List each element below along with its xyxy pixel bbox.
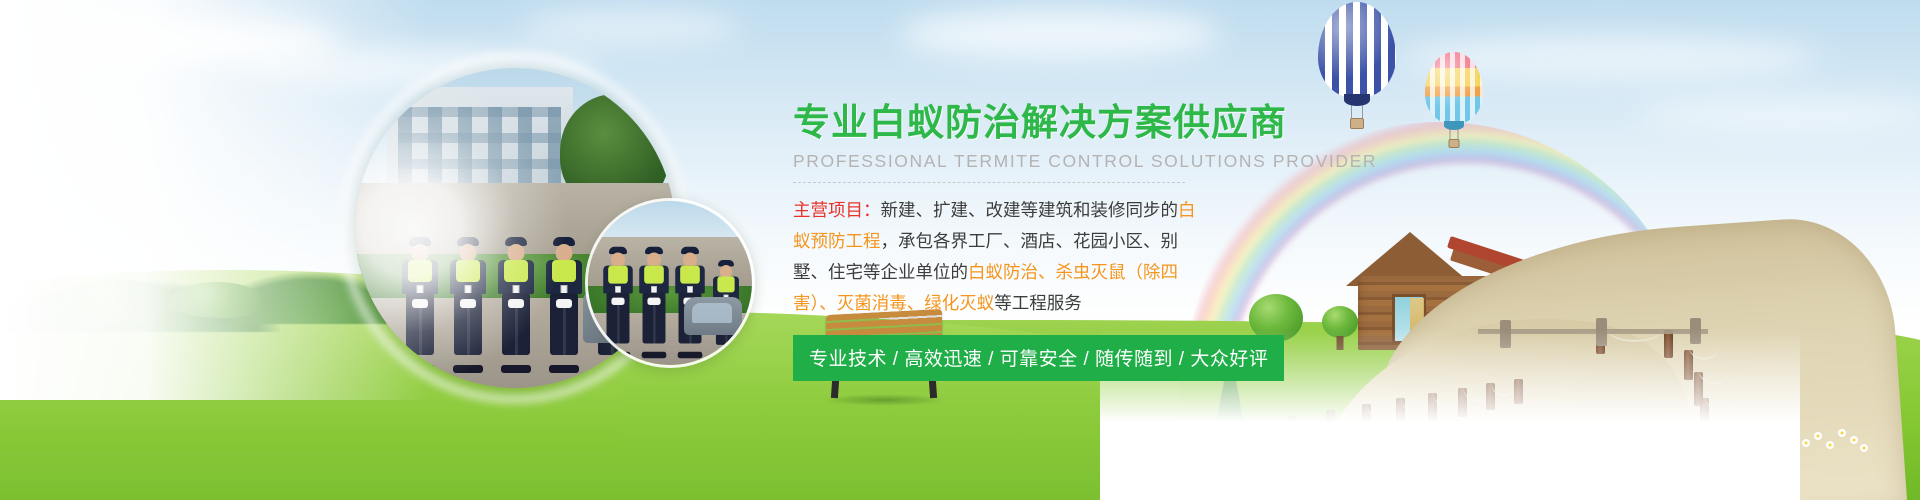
daisy-cluster-icon xyxy=(1658,424,1742,448)
fence-post xyxy=(1500,320,1511,348)
hot-air-balloon-icon xyxy=(1318,2,1396,98)
features-badge-bar: 专业技术 / 高效迅速 / 可靠安全 / 随传随到 / 大众好评 xyxy=(793,335,1284,381)
banner-headline: 专业白蚁防治解决方案供应商 xyxy=(793,103,1493,144)
banner-text-block: 专业白蚁防治解决方案供应商 PROFESSIONAL TERMITE CONTR… xyxy=(793,103,1493,381)
body-line1-a: 新建、扩建、改建等建筑和装修同步的 xyxy=(881,200,1179,220)
body-line1-b: ，承包 xyxy=(881,231,934,251)
fence-post xyxy=(1690,318,1701,344)
body-line3-b: 等工程服务 xyxy=(994,293,1082,313)
fence-post xyxy=(1664,330,1673,358)
fence-post xyxy=(1596,318,1607,346)
banner-subheadline: PROFESSIONAL TERMITE CONTROL SOLUTIONS P… xyxy=(793,151,1493,172)
body-label: 主营项目 xyxy=(793,200,863,220)
body-colon: ： xyxy=(863,200,881,220)
cloud-icon xyxy=(900,8,1220,60)
banner-body-copy: 主营项目：新建、扩建、改建等建筑和装修同步的白蚁预防工程，承包各界工厂、酒店、花… xyxy=(793,195,1203,319)
promotional-banner: 专业白蚁防治解决方案供应商 PROFESSIONAL TERMITE CONTR… xyxy=(0,0,1920,500)
rail-fence xyxy=(1478,318,1708,334)
text-divider xyxy=(793,182,1185,183)
daisy-cluster-icon xyxy=(1752,424,1872,456)
cloud-icon xyxy=(1640,96,1920,132)
photo-collage xyxy=(0,0,800,400)
body-line2-keyword: 白蚁防治、杀虫 xyxy=(968,262,1091,282)
fence-post xyxy=(1514,379,1523,404)
team-photo-small xyxy=(585,198,755,368)
